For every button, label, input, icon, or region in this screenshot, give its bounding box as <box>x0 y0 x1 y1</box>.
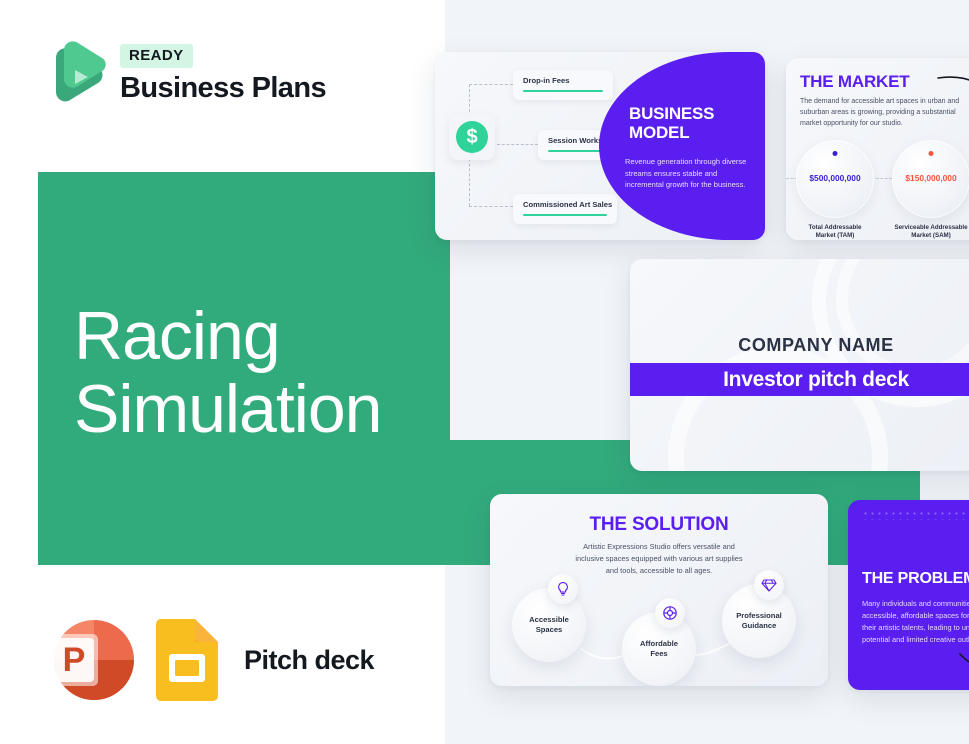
google-slides-file-icon <box>156 619 218 701</box>
powerpoint-file-icon: P <box>40 614 134 706</box>
metric-dot <box>833 151 838 156</box>
dollar-sign-icon: $ <box>449 114 495 160</box>
brand-text: READY Business Plans <box>120 42 326 105</box>
market-metric-circle: $500,000,000 <box>796 140 874 218</box>
solution-description: Artistic Expressions Studio offers versa… <box>564 541 754 577</box>
revenue-stream-label: Commissioned Art Sales <box>523 200 607 209</box>
problem-description: Many individuals and communities lack ac… <box>862 598 969 646</box>
slide-business-model[interactable]: $ Drop-in Fees Session Workshops Commiss… <box>435 52 765 240</box>
business-model-body: Revenue generation through diverse strea… <box>625 156 753 191</box>
swoosh-accent-icon <box>958 652 969 678</box>
lifebuoy-icon <box>655 598 685 628</box>
pitch-deck-subtitle: Investor pitch deck <box>723 368 909 392</box>
page-title: Racing Simulation <box>74 300 382 447</box>
metric-dot <box>929 151 934 156</box>
pitch-deck-band: Investor pitch deck <box>630 363 969 396</box>
market-metric-circle: $150,000,000 <box>892 140 969 218</box>
brand-lockup: READY Business Plans <box>40 36 326 110</box>
underline-accent <box>523 90 603 92</box>
underline-accent <box>523 214 607 216</box>
ready-badge: READY <box>120 44 193 68</box>
slide-the-market[interactable]: THE MARKET The demand for accessible art… <box>786 58 969 240</box>
slide-company-name[interactable]: COMPANY NAME Investor pitch deck <box>630 259 969 471</box>
svg-text:P: P <box>63 641 86 679</box>
play-triangle-logo-icon <box>40 36 106 110</box>
revenue-stream-item: Drop-in Fees <box>513 70 613 100</box>
connector-branch-bottom <box>469 206 513 207</box>
format-label: Pitch deck <box>244 645 374 676</box>
metric-value: $150,000,000 <box>892 173 969 183</box>
connector-branch-top <box>469 84 513 85</box>
business-model-heading: BUSINESS MODEL <box>629 104 753 142</box>
diamond-icon <box>754 570 784 600</box>
slide-the-solution[interactable]: THE SOLUTION Artistic Expressions Studio… <box>490 494 828 686</box>
solution-node-label: Accessible Spaces <box>529 615 569 636</box>
poster-canvas: READY Business Plans Racing Simulation P <box>0 0 969 744</box>
revenue-stream-label: Drop-in Fees <box>523 76 603 85</box>
metric-caption: Serviceable Addressable Market (SAM) <box>883 224 969 240</box>
solution-node-label: Affordable Fees <box>640 639 678 660</box>
company-name: COMPANY NAME <box>630 335 969 356</box>
solution-node: Accessible Spaces <box>512 588 586 662</box>
problem-title: THE PROBLEM <box>862 570 969 588</box>
solution-node-label: Professional Guidance <box>736 611 782 632</box>
brand-title: Business Plans <box>120 72 326 105</box>
dot-pattern <box>862 510 969 520</box>
market-rule-middle <box>876 178 892 179</box>
format-badges: P Pitch deck <box>40 614 374 706</box>
solution-title: THE SOLUTION <box>490 514 828 536</box>
market-description: The demand for accessible art spaces in … <box>800 96 960 130</box>
lightbulb-icon <box>548 574 578 604</box>
slide-the-problem[interactable]: THE PROBLEM Many individuals and communi… <box>848 500 969 690</box>
revenue-stream-item: Commissioned Art Sales <box>513 194 617 224</box>
metric-caption: Total Addressable Market (TAM) <box>787 224 883 240</box>
metric-value: $500,000,000 <box>796 173 874 183</box>
market-title: THE MARKET <box>800 72 909 92</box>
connector-branch-middle <box>497 144 538 145</box>
purple-arc-panel <box>599 52 765 240</box>
